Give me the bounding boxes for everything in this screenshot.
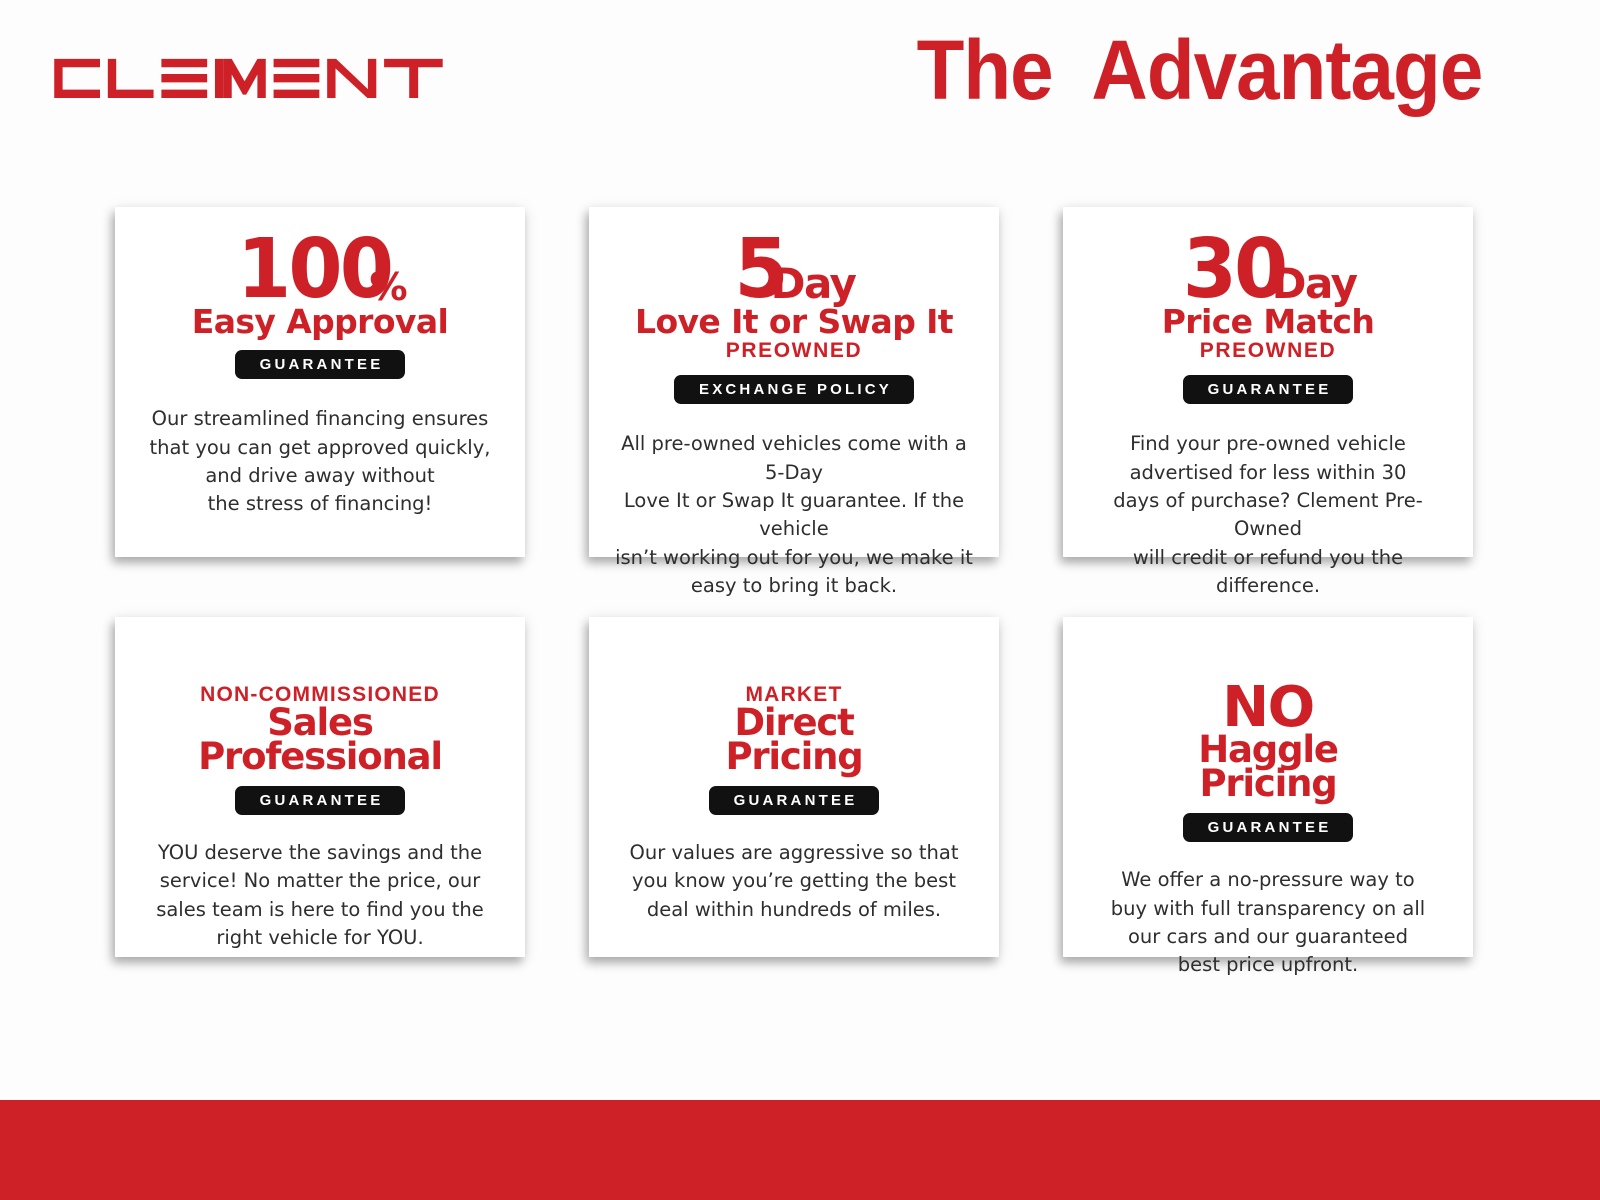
status-badge: GUARANTEE (1183, 375, 1354, 404)
status-badge: GUARANTEE (235, 786, 406, 815)
status-badge: GUARANTEE (235, 350, 406, 379)
headline-number: 30 (1182, 233, 1285, 307)
card-headline: 100 % (131, 233, 509, 307)
headline-suffix: % (370, 270, 407, 305)
status-badge: GUARANTEE (709, 786, 880, 815)
clement-wordmark-logo (52, 50, 454, 98)
card-headline-line2: Professional (198, 740, 442, 774)
card-body-text: Find your pre-owned vehicle advertised f… (1088, 430, 1448, 600)
headline-suffix: Day (1272, 263, 1357, 305)
card-body-text: Our streamlined financing ensures that y… (150, 405, 491, 518)
page-header: The Advantage (0, 0, 1600, 155)
status-badge: EXCHANGE POLICY (674, 375, 914, 404)
headline-number: 100 (237, 233, 391, 307)
advantage-card[interactable]: 100 % Easy Approval GUARANTEE Our stream… (115, 207, 525, 557)
advantage-card[interactable]: 5 Day Love It or Swap It PREOWNED EXCHAN… (589, 207, 999, 557)
card-body-text: YOU deserve the savings and the service!… (156, 839, 484, 952)
card-subtitle: Love It or Swap It (635, 305, 953, 339)
advantage-card[interactable]: NON-COMMISSIONED Sales Professional GUAR… (115, 617, 525, 957)
advantage-card[interactable]: NO Haggle Pricing GUARANTEE We offer a n… (1063, 617, 1473, 957)
advantage-card[interactable]: MARKET Direct Pricing GUARANTEE Our valu… (589, 617, 999, 957)
card-headline-line2: Pricing (1199, 767, 1336, 801)
card-headline: 30 Day (1079, 233, 1457, 307)
advantage-card[interactable]: 30 Day Price Match PREOWNED GUARANTEE Fi… (1063, 207, 1473, 557)
page-title: The Advantage (916, 28, 1482, 112)
headline-suffix: Day (771, 263, 856, 305)
advantage-card-grid: 100 % Easy Approval GUARANTEE Our stream… (115, 207, 1505, 957)
footer-red-bar (0, 1100, 1600, 1200)
status-badge: GUARANTEE (1183, 813, 1354, 842)
card-body-text: We offer a no-pressure way to buy with f… (1111, 866, 1425, 979)
card-preowned-label: PREOWNED (726, 339, 862, 363)
card-preowned-label: PREOWNED (1200, 339, 1336, 363)
card-body-text: Our values are aggressive so that you kn… (630, 839, 959, 924)
card-body-text: All pre-owned vehicles come with a 5-Day… (614, 430, 974, 600)
card-eyebrow: NO (1222, 683, 1313, 733)
advantage-page: The Advantage 100 % Easy Approval GUARAN… (0, 0, 1600, 1200)
card-headline-line2: Pricing (725, 740, 862, 774)
card-headline: 5 Day (605, 233, 983, 307)
